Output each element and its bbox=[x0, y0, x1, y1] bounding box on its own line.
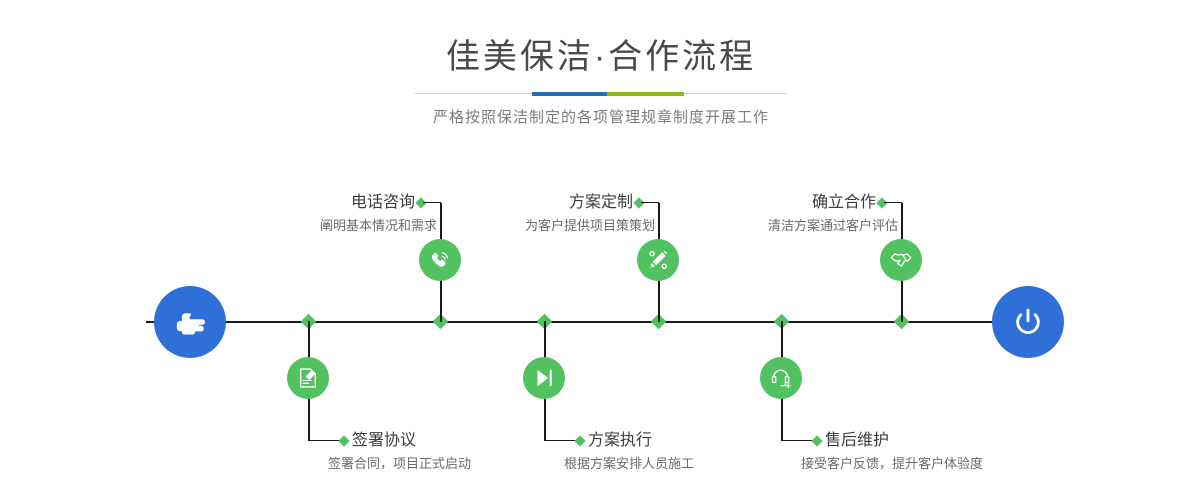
callout-marker bbox=[338, 435, 349, 446]
step-icon-1[interactable] bbox=[419, 239, 461, 281]
callout-desc: 接受客户反馈，提升客户体验度 bbox=[801, 454, 983, 474]
callout-desc: 阐明基本情况和需求 bbox=[320, 216, 437, 236]
step-icon-2[interactable] bbox=[287, 357, 329, 399]
pencil-ruler-icon bbox=[645, 247, 671, 273]
callout-desc: 为客户提供项目策策划 bbox=[525, 216, 655, 236]
callout-title: 方案执行 bbox=[588, 430, 652, 452]
callout-title: 签署协议 bbox=[352, 430, 416, 452]
callout-leader-line bbox=[544, 440, 578, 441]
play-execute-icon bbox=[531, 365, 557, 391]
callout-leader-line bbox=[884, 202, 902, 203]
callout-desc: 清洁方案通过客户评估 bbox=[768, 216, 898, 236]
power-icon bbox=[1008, 302, 1048, 342]
callout-marker bbox=[574, 435, 585, 446]
step-icon-3[interactable] bbox=[637, 239, 679, 281]
phone-call-icon bbox=[427, 247, 453, 273]
step-icon-5[interactable] bbox=[880, 239, 922, 281]
callout-title: 确立合作 bbox=[812, 192, 876, 214]
callout-desc: 签署合同，项目正式启动 bbox=[328, 454, 471, 474]
callout-leader-line bbox=[308, 440, 342, 441]
callout-leader-line bbox=[423, 202, 441, 203]
callout-leader-line bbox=[641, 202, 659, 203]
callout-marker bbox=[811, 435, 822, 446]
callout-leader-line bbox=[781, 440, 815, 441]
step-icon-6[interactable] bbox=[760, 357, 802, 399]
step-icon-4[interactable] bbox=[523, 357, 565, 399]
process-timeline: 电话咨询 阐明基本情况和需求 方案定制 为客户提供项目策策划 确立合作 清洁方案… bbox=[0, 0, 1202, 502]
cooperation-process-infographic: 佳美保洁·合作流程 严格按照保洁制定的各项管理规章制度开展工作 bbox=[0, 0, 1202, 502]
callout-title: 售后维护 bbox=[825, 430, 889, 452]
callout-title: 方案定制 bbox=[569, 192, 633, 214]
timeline-start-node bbox=[154, 286, 226, 358]
handshake-icon bbox=[888, 247, 914, 273]
pointing-hand-icon bbox=[170, 302, 210, 342]
callout-title: 电话咨询 bbox=[351, 192, 415, 214]
callout-desc: 根据方案安排人员施工 bbox=[564, 454, 694, 474]
headset-support-icon bbox=[768, 365, 794, 391]
timeline-end-node bbox=[992, 286, 1064, 358]
document-edit-icon bbox=[295, 365, 321, 391]
